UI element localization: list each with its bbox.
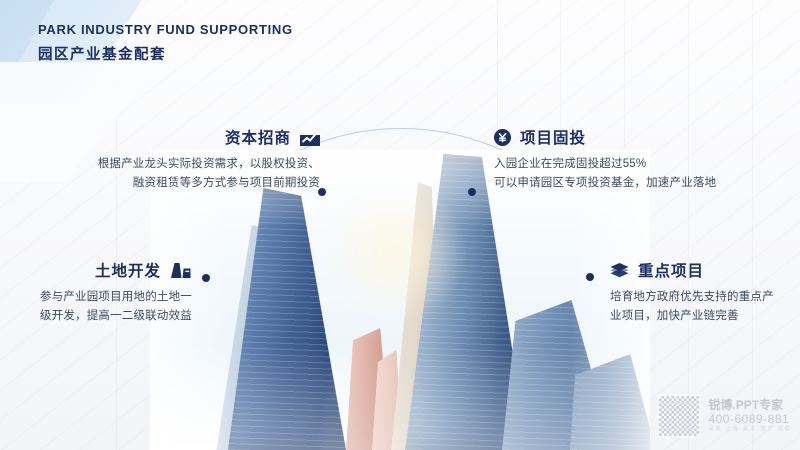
block-body: 入园企业在完成固投超过55% 可以申请园区专项投资基金，加速产业落地 (494, 155, 794, 193)
block-title-row: 资本招商 (60, 126, 320, 148)
title-chinese: 园区产业基金配套 (38, 43, 293, 64)
block-body: 参与产业园项目用地的土地一 级开发，提高一二级联动效益 (20, 288, 192, 326)
block-title-text: 项目固投 (520, 126, 586, 148)
bar-chart-up-icon (300, 129, 320, 146)
watermark-brand: 锐博.PPT专家 (708, 399, 792, 413)
block-body-line: 入园企业在完成固投超过55% (494, 155, 794, 174)
block-title-text: 土地开发 (95, 259, 161, 281)
watermark-text: 锐博.PPT专家 400-6089-881 深圳 上海 武汉 重庆 成都 (708, 399, 792, 432)
block-title-text: 重点项目 (638, 259, 704, 281)
block-body-line: 可以申请园区专项投资基金，加速产业落地 (494, 174, 794, 193)
block-title-row: 重点项目 (610, 259, 800, 281)
info-block-capital-investment[interactable]: 资本招商 根据产业龙头实际投资需求，以股权投资、 融资租赁等多方式参与项目前期投… (60, 126, 320, 193)
layers-stack-icon (610, 262, 629, 279)
watermark: 锐博.PPT专家 400-6089-881 深圳 上海 武汉 重庆 成都 (657, 394, 792, 438)
watermark-cities: 深圳 上海 武汉 重庆 成都 (708, 427, 792, 433)
skyscraper-photo (150, 150, 650, 450)
title-english: PARK INDUSTRY FUND SUPPORTING (38, 22, 293, 38)
slide-canvas: PARK INDUSTRY FUND SUPPORTING 园区产业基金配套 资… (0, 0, 800, 450)
buildings-icon (170, 262, 192, 278)
background-guide-line (752, 0, 753, 450)
block-title-row: 土地开发 (20, 259, 192, 281)
connector-dot-key-projects (586, 273, 594, 281)
block-body-line: 业项目，加快产业链完善 (610, 307, 800, 326)
yuan-coin-icon (494, 129, 511, 146)
info-block-key-projects[interactable]: 重点项目 培育地方政府优先支持的重点产 业项目，加快产业链完善 (610, 259, 800, 326)
block-body-line: 培育地方政府优先支持的重点产 (610, 288, 800, 307)
block-body: 根据产业龙头实际投资需求，以股权投资、 融资租赁等多方式参与项目前期投资 (60, 155, 320, 193)
block-body-line: 参与产业园项目用地的土地一 (20, 288, 192, 307)
connector-dot-fixed-asset-investment (468, 188, 476, 196)
block-body-line: 级开发，提高一二级联动效益 (20, 307, 192, 326)
page-title: PARK INDUSTRY FUND SUPPORTING 园区产业基金配套 (38, 22, 293, 64)
block-body-line: 根据产业龙头实际投资需求，以股权投资、 (60, 155, 320, 174)
block-title-text: 资本招商 (225, 126, 291, 148)
block-body: 培育地方政府优先支持的重点产 业项目，加快产业链完善 (610, 288, 800, 326)
watermark-phone: 400-6089-881 (708, 413, 792, 427)
info-block-fixed-asset-investment[interactable]: 项目固投 入园企业在完成固投超过55% 可以申请园区专项投资基金，加速产业落地 (494, 126, 794, 193)
background-guide-line (688, 0, 689, 450)
block-body-line: 融资租赁等多方式参与项目前期投资 (60, 174, 320, 193)
block-title-row: 项目固投 (494, 126, 794, 148)
qr-code-icon (657, 394, 701, 438)
info-block-land-development[interactable]: 土地开发 参与产业园项目用地的土地一 级开发，提高一二级联动效益 (20, 259, 192, 326)
connector-dot-land-development (202, 274, 210, 282)
